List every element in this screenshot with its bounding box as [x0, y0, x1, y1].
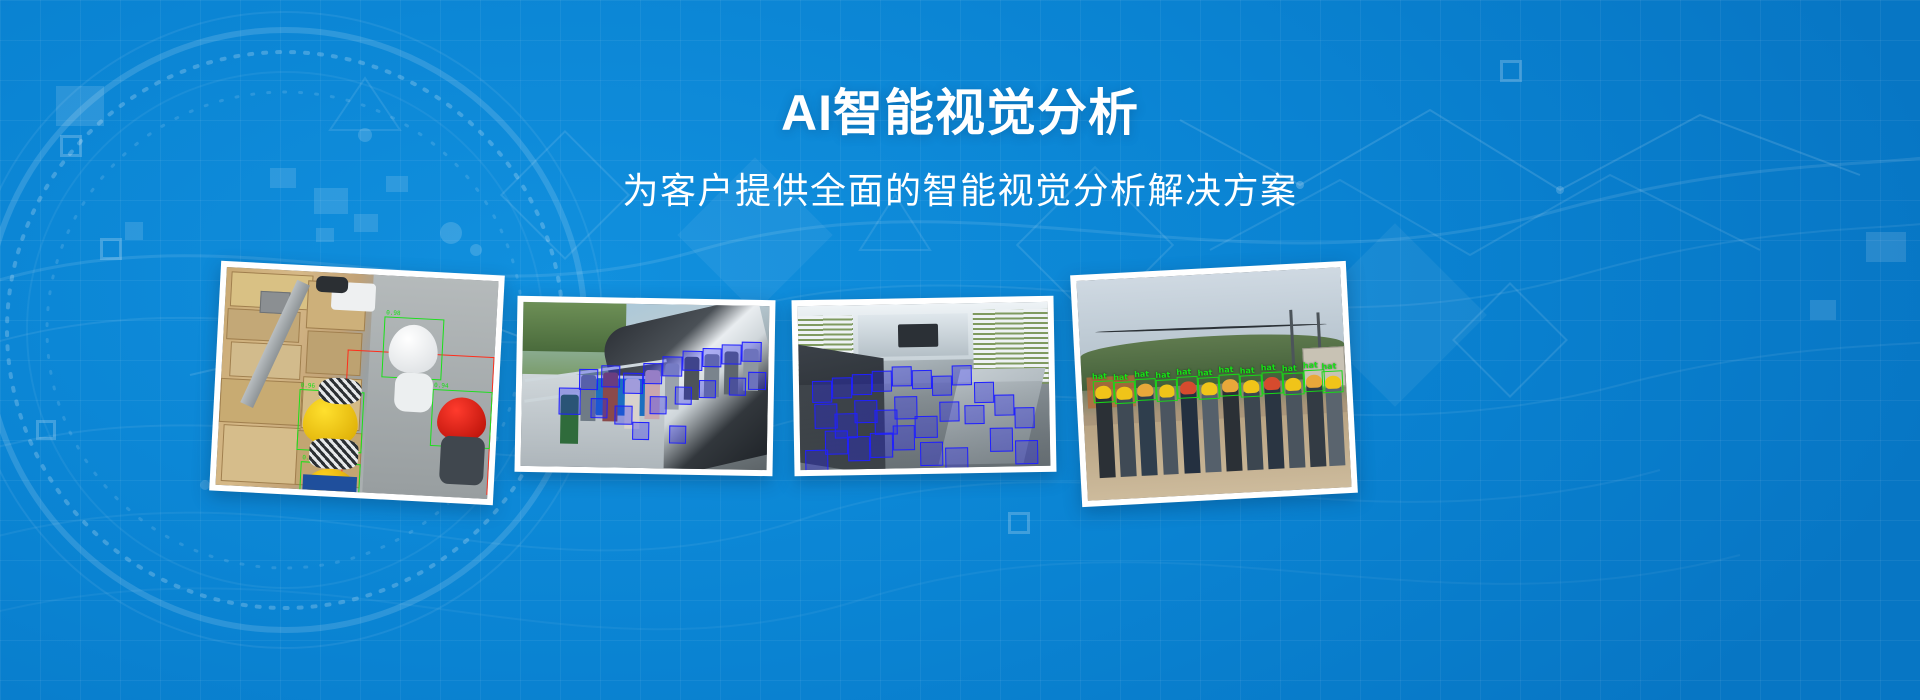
detection-box-person: [974, 381, 994, 403]
detection-box-face: [669, 426, 687, 444]
deco-square-filled: [316, 228, 334, 242]
scene-concourse: [798, 302, 1051, 470]
detection-box-person: [1015, 440, 1038, 465]
detection-label: 0.94: [434, 381, 449, 391]
detection-box-face: [728, 378, 746, 396]
detection-box-face: [649, 396, 667, 414]
detection-label: hat: [1240, 366, 1255, 377]
detection-box-face: [579, 368, 599, 390]
detection-box-person: [945, 448, 968, 471]
detection-box-hat: hat: [1177, 376, 1199, 399]
detection-label: hat: [1134, 370, 1149, 381]
detection-label: hat: [1303, 361, 1318, 372]
deco-square-filled: [354, 214, 378, 232]
detection-label: hat: [1261, 363, 1276, 374]
detection-box-face: [674, 387, 692, 405]
detection-box-person: [951, 365, 971, 385]
detection-box-person: [851, 374, 871, 396]
deco-square-outline: [100, 238, 122, 260]
detection-box-hat: hat: [1282, 373, 1304, 396]
detection-box-person: [931, 376, 951, 396]
detection-box-person: [911, 369, 931, 389]
gallery-photo-warehouse-helmet-detection[interactable]: 0.98 0.96 0.94 0.91: [209, 261, 505, 506]
detection-box-hat: hat: [1261, 372, 1283, 395]
ai-vision-banner: AI智能视觉分析 为客户提供全面的智能视觉分析解决方案: [0, 0, 1920, 700]
detection-box-face: [682, 351, 702, 371]
detection-label: 0.98: [386, 309, 401, 319]
photo-gallery-strip: 0.98 0.96 0.94 0.91: [0, 258, 1920, 528]
detection-box-face: [748, 371, 766, 389]
detection-label: hat: [1321, 362, 1336, 373]
detection-label: 0.96: [300, 381, 315, 391]
detection-box-face: [662, 357, 682, 377]
detection-box-person: [964, 405, 984, 425]
detection-box-face: [601, 366, 621, 388]
detection-box-person: [990, 427, 1013, 452]
detection-box-person: [871, 370, 891, 392]
detection-box-hat: hat: [1156, 379, 1178, 402]
gallery-photo-station-platform-crowd-detection[interactable]: [514, 296, 775, 476]
gallery-photo-outdoor-safety-hat-detection[interactable]: hat hat hat hat: [1070, 261, 1358, 507]
detection-box-person: [847, 436, 870, 461]
detection-box-face: [558, 388, 581, 415]
detection-box-face: [741, 342, 761, 362]
page-title: AI智能视觉分析: [0, 86, 1920, 141]
deco-square-outline: [1500, 60, 1522, 82]
deco-dot: [470, 244, 482, 256]
detection-box-person: [891, 367, 911, 387]
gallery-photo-concourse-crowd-density-detection[interactable]: [791, 296, 1056, 477]
detection-box-person: [831, 377, 851, 399]
detection-label: hat: [1197, 368, 1212, 379]
detection-box-person: [939, 402, 959, 422]
detection-box-face: [632, 422, 650, 440]
detection-box-hat: hat: [1240, 375, 1262, 398]
detection-box-hat: hat: [1322, 371, 1344, 394]
detection-box-person: [920, 441, 943, 466]
detection-box-hat: hat: [1198, 377, 1220, 400]
page-subtitle: 为客户提供全面的智能视觉分析解决方案: [0, 169, 1920, 212]
detection-box-person: [892, 426, 915, 451]
detection-box-face: [615, 405, 633, 425]
detection-box-helmet: 0.98: [382, 317, 445, 381]
detection-box-person: [805, 450, 828, 470]
detection-box-face: [699, 380, 717, 398]
detection-box-person: [825, 430, 848, 455]
detection-box-person: [994, 394, 1014, 416]
detection-box-person: [1014, 407, 1034, 429]
scene-warehouse: 0.98 0.96 0.94 0.91: [215, 267, 498, 499]
detection-label: hat: [1176, 367, 1191, 378]
detection-box-hat: hat: [1092, 380, 1114, 403]
detection-box-face: [702, 348, 722, 368]
detection-box-hat: hat: [1113, 382, 1135, 405]
detection-box-face: [722, 345, 742, 365]
detection-box-face: [643, 363, 663, 385]
detection-box-face: [590, 398, 608, 418]
detection-box-person: [870, 432, 893, 457]
scene-outdoor-site: hat hat hat hat: [1076, 267, 1351, 501]
detection-label: hat: [1092, 372, 1107, 383]
banner-headings: AI智能视觉分析 为客户提供全面的智能视觉分析解决方案: [0, 86, 1920, 212]
detection-label: hat: [1155, 371, 1170, 382]
deco-square-filled: [125, 222, 143, 240]
detection-box-person: [811, 381, 831, 403]
detection-box-hat: hat: [1134, 378, 1156, 401]
detection-box-person: [915, 415, 938, 438]
detection-label: hat: [1113, 373, 1128, 384]
detection-label: hat: [1218, 365, 1233, 376]
detection-label: hat: [1282, 364, 1297, 375]
detection-box-face: [623, 372, 643, 394]
deco-dot: [440, 222, 462, 244]
scene-station-platform: [521, 302, 770, 470]
detection-box-hat: hat: [1219, 374, 1241, 397]
